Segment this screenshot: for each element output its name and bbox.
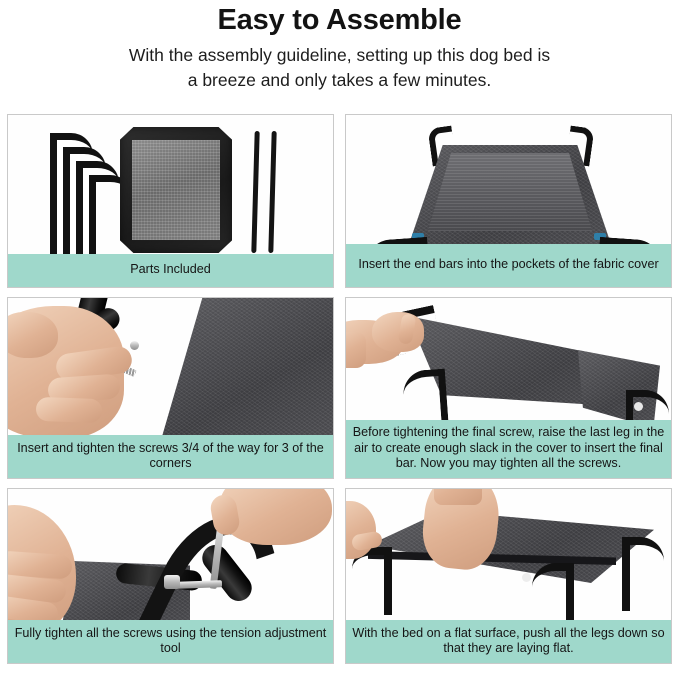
step-caption-6: With the bed on a flat surface, push all… (346, 620, 671, 663)
page-title: Easy to Assemble (0, 2, 679, 38)
page-subtitle-line-2: a breeze and only takes a few minutes. (188, 70, 492, 90)
screw-bolt (164, 575, 180, 589)
forearm (434, 489, 482, 505)
screw-head (130, 341, 139, 350)
step-panel-5: Fully tighten all the screws using the t… (7, 488, 334, 664)
step-caption-3: Insert and tighten the screws 3/4 of the… (8, 435, 333, 478)
step-panel-6: With the bed on a flat surface, push all… (345, 488, 672, 664)
bed-top-surface (368, 511, 654, 583)
step-image-4 (346, 298, 671, 420)
part-straight-bar (268, 131, 276, 253)
step-image-6 (346, 489, 671, 620)
forearm (346, 332, 366, 368)
hand (372, 312, 424, 352)
bed-leg (596, 237, 663, 244)
screw-knob (634, 402, 643, 411)
step-panel-2: Insert the end bars into the pockets of … (345, 114, 672, 288)
thumb (8, 312, 58, 358)
bed-leg (364, 237, 431, 244)
page-subtitle: With the assembly guideline, setting up … (0, 43, 679, 93)
step-image-2 (346, 115, 671, 244)
screw-knob (522, 573, 531, 582)
part-fabric-mesh (132, 140, 220, 240)
steps-grid: Parts Included Insert the end bars into … (7, 114, 672, 666)
part-fabric-cover (120, 127, 232, 253)
step-caption-1: Parts Included (8, 254, 333, 287)
bed-fabric-corner (161, 298, 333, 435)
step-caption-2: Insert the end bars into the pockets of … (346, 244, 671, 287)
step-panel-3: Insert and tighten the screws 3/4 of the… (7, 297, 334, 479)
step-caption-5: Fully tighten all the screws using the t… (8, 620, 333, 663)
page-header: Easy to Assemble With the assembly guide… (0, 0, 679, 93)
step-caption-4: Before tightening the final screw, raise… (346, 420, 671, 478)
part-straight-bar (251, 131, 259, 253)
step-image-1 (8, 115, 333, 254)
bed-leg (532, 563, 574, 620)
bed-leg (622, 537, 664, 611)
bed-leg (402, 369, 449, 420)
bed-leg (626, 390, 669, 420)
step-panel-4: Before tightening the final screw, raise… (345, 297, 672, 479)
bed-fabric-inner (428, 153, 592, 231)
finger (36, 397, 103, 423)
step-image-3 (8, 298, 333, 435)
step-panel-1: Parts Included (7, 114, 334, 288)
page-subtitle-line-1: With the assembly guideline, setting up … (129, 45, 550, 65)
step-image-5 (8, 489, 333, 620)
